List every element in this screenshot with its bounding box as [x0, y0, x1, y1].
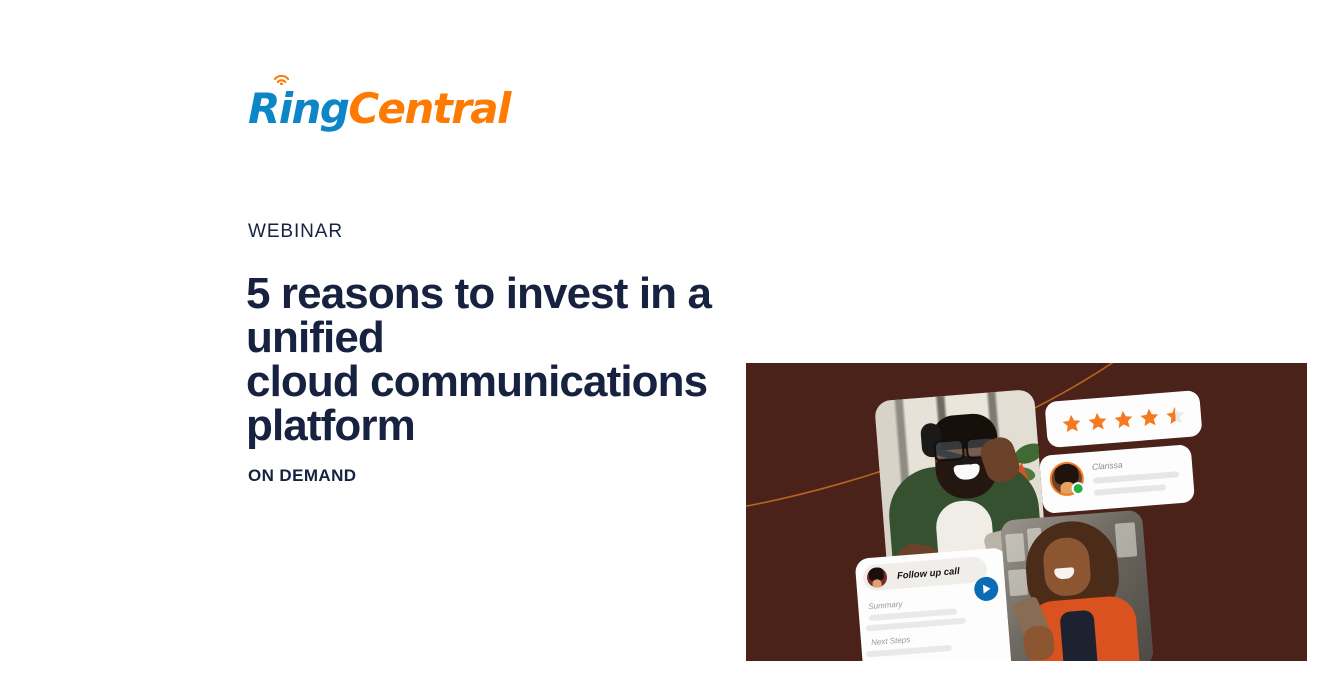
star-half-icon	[1164, 404, 1187, 427]
building-window	[1115, 522, 1138, 557]
summary-label: Summary	[868, 600, 903, 612]
placeholder-bar	[1094, 484, 1166, 496]
wifi-signal-icon	[273, 71, 290, 85]
woman-hand	[1023, 625, 1056, 661]
ringcentral-logo[interactable]: Ring Central	[248, 88, 510, 130]
logo-text-ring: Ring	[248, 88, 348, 130]
avatar	[866, 567, 888, 589]
star-icon	[1060, 412, 1083, 435]
play-button-icon[interactable]	[973, 576, 999, 602]
logo-ring-label: Ring	[248, 84, 348, 133]
contact-card[interactable]: Clarissa	[1039, 444, 1195, 514]
availability-label: ON DEMAND	[248, 466, 356, 486]
placeholder-bar	[866, 645, 952, 658]
headline-line-1: 5 reasons to invest in a unified	[246, 272, 846, 360]
woman-with-phone-photo	[1000, 510, 1154, 661]
placeholder-bar	[1093, 471, 1179, 484]
hero-image-panel: Clarissa Follow up call Summary Next Ste…	[746, 363, 1307, 661]
online-status-icon	[1071, 482, 1085, 496]
contact-name: Clarissa	[1092, 460, 1123, 472]
content-type-label: WEBINAR	[248, 221, 343, 243]
call-card-header: Follow up call	[862, 556, 988, 592]
star-icon	[1138, 406, 1161, 429]
call-summary-card[interactable]: Follow up call Summary Next Steps	[855, 547, 1016, 661]
next-steps-label: Next Steps	[871, 635, 911, 647]
star-icon	[1086, 410, 1109, 433]
logo-text-central: Central	[348, 88, 510, 130]
star-icon	[1112, 408, 1135, 431]
building-window	[1005, 533, 1025, 562]
call-title: Follow up call	[897, 565, 960, 581]
woman-shirt	[1059, 610, 1099, 661]
building-window	[1008, 569, 1028, 596]
